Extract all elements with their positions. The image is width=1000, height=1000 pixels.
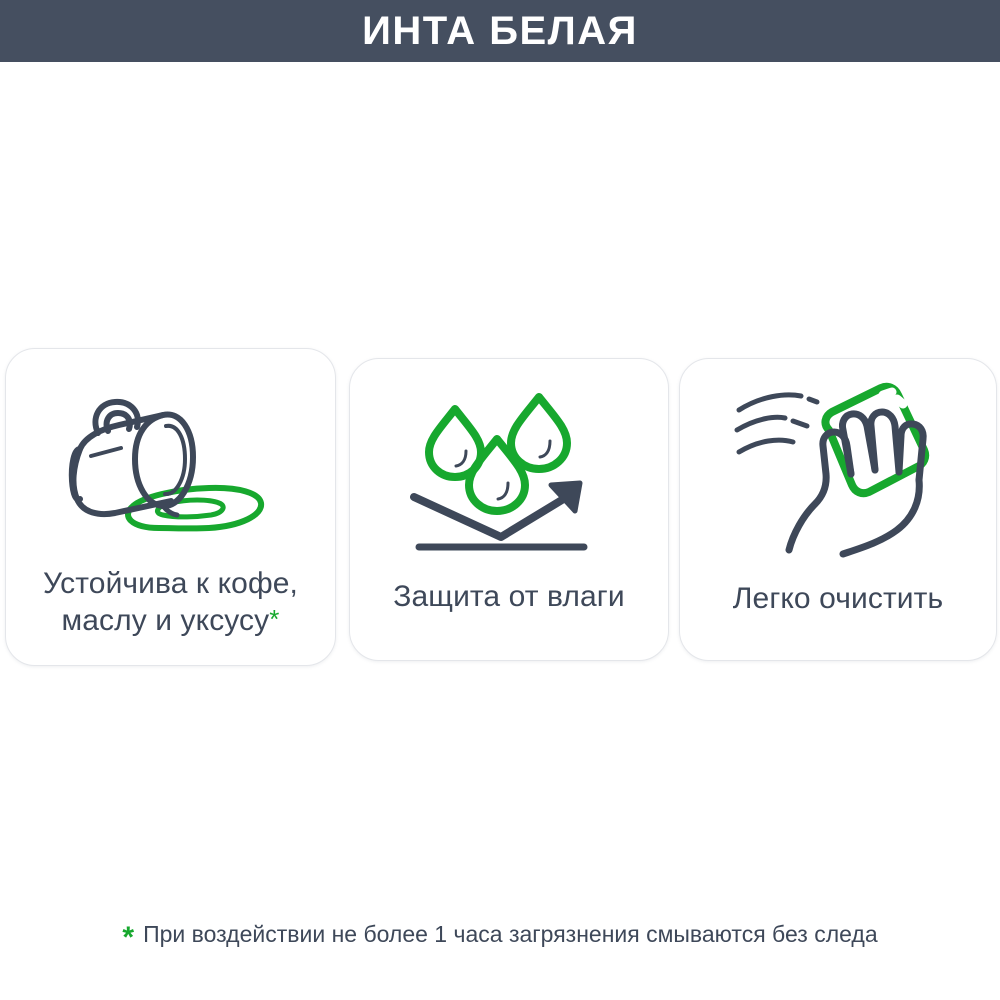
feature-cards-row: Устойчива к кофе, маслу и уксусу* (0, 348, 1000, 673)
spilled-mug-icon (63, 389, 278, 544)
feature-card-stain-resistant[interactable]: Устойчива к кофе, маслу и уксусу* (5, 348, 336, 666)
feature-card-label: Легко очистить (721, 581, 955, 618)
label-line-1: Устойчива к кофе, (43, 567, 298, 600)
feature-card-label: Устойчива к кофе, маслу и уксусу* (31, 566, 310, 639)
water-repellent-drops-icon (409, 391, 609, 551)
asterisk-marker: * (269, 604, 279, 634)
label-line-2: маслу и уксусу (61, 604, 269, 637)
header-bar: ИНТА БЕЛАЯ (0, 0, 1000, 62)
feature-card-label: Защита от влаги (381, 579, 636, 616)
feature-card-moisture-protection[interactable]: Защита от влаги (349, 358, 669, 661)
page-title: ИНТА БЕЛАЯ (362, 11, 638, 51)
footnote: * При воздействии не более 1 часа загряз… (0, 918, 1000, 948)
footnote-asterisk: * (122, 923, 134, 953)
footnote-text: При воздействии не более 1 часа загрязне… (143, 923, 878, 946)
hand-wiping-cloth-icon (731, 384, 946, 559)
label-line-1: Легко очистить (733, 582, 943, 615)
feature-card-easy-to-clean[interactable]: Легко очистить (679, 358, 997, 661)
label-line-1: Защита от влаги (393, 580, 624, 613)
